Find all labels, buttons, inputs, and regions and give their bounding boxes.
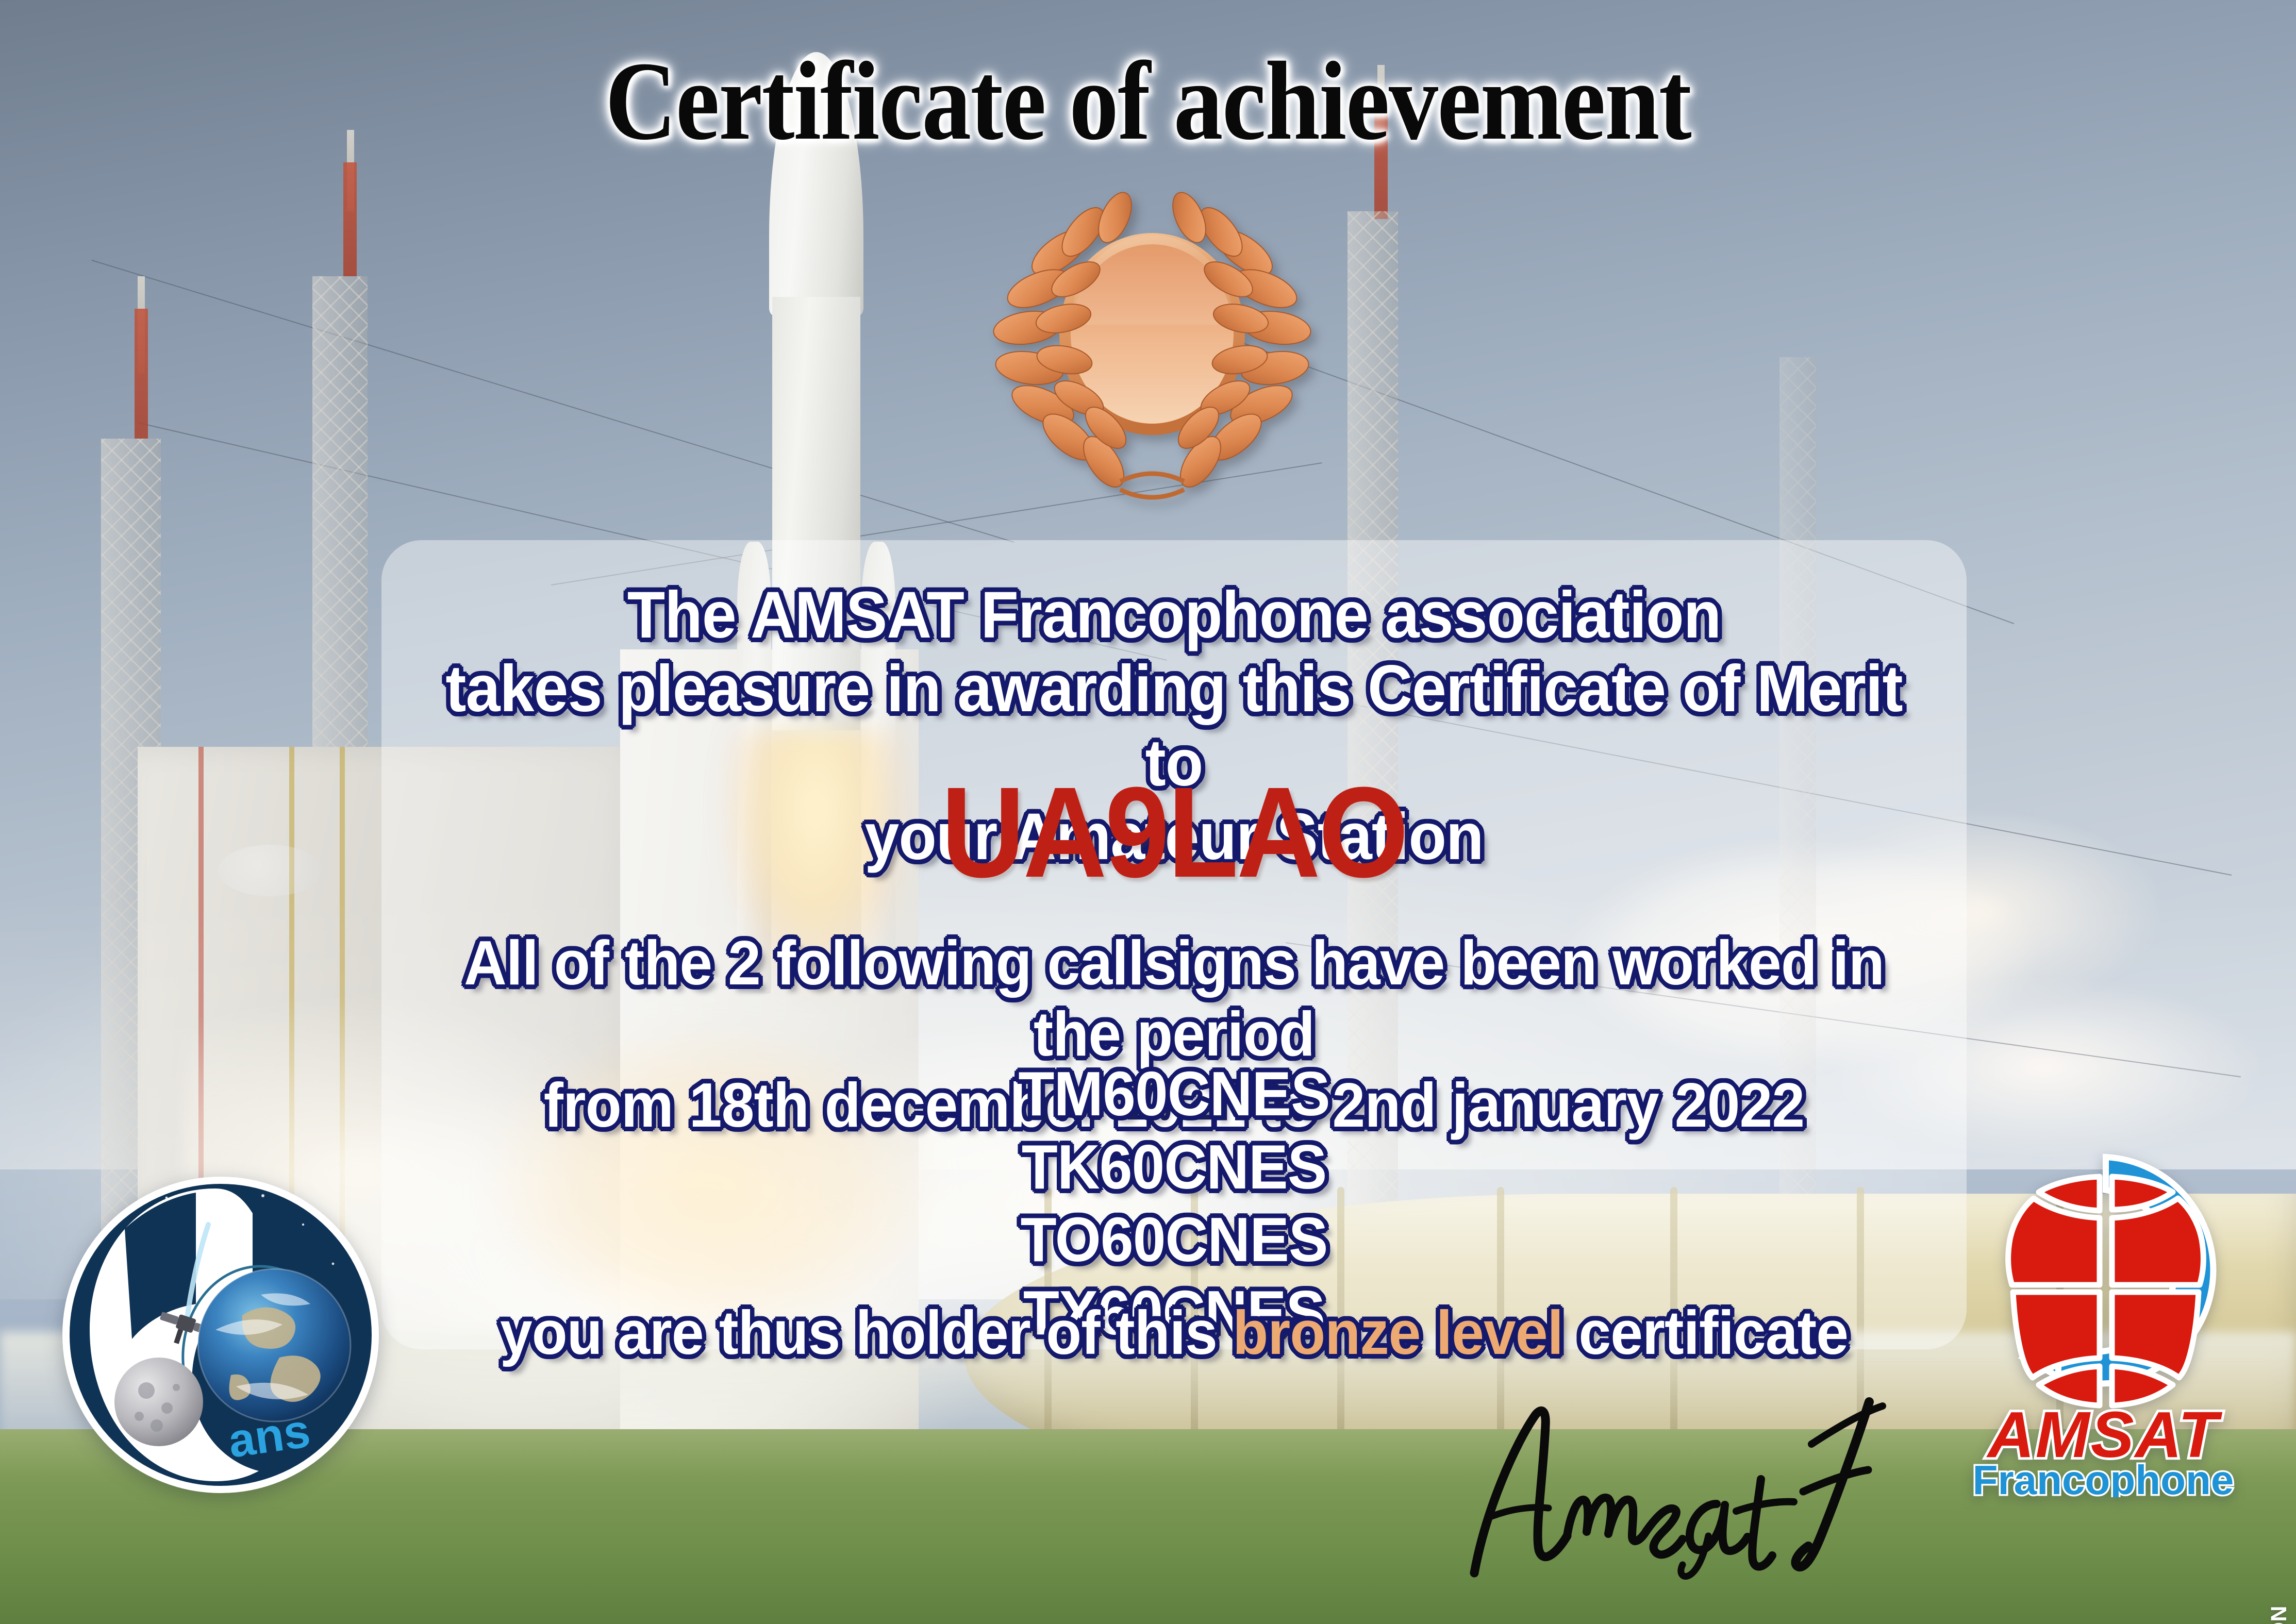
page-title: Certificate of achievement bbox=[138, 45, 2158, 158]
photo-credit-right: ©2021 ESA-CNES-ARIANESPACE / Optique Vid… bbox=[2267, 1605, 2292, 1624]
logo60-ans-label: ans bbox=[225, 1404, 313, 1468]
amsat-francophone-logo-icon: AMSAT Francophone bbox=[1936, 1136, 2271, 1497]
worked-callsign-item: TM60CNES bbox=[429, 1058, 1919, 1131]
signature-icon bbox=[1438, 1381, 1902, 1587]
closing-prefix: you are thus holder of this bbox=[500, 1298, 1233, 1367]
cnes-60-ans-logo-icon: ans bbox=[61, 1175, 380, 1495]
closing-text: you are thus holder of this bronze level… bbox=[429, 1299, 1919, 1367]
worked-callsign-item: TO60CNES bbox=[429, 1203, 1919, 1277]
award-level-badge: bronze level bbox=[1233, 1298, 1563, 1367]
recipient-callsign: UA9LAO bbox=[461, 768, 1888, 897]
worked-callsign-item: TK60CNES bbox=[429, 1131, 1919, 1204]
certificate-canvas: Certificate of achievement bbox=[0, 0, 2296, 1624]
intro-line-1: The AMSAT Francophone association bbox=[429, 578, 1919, 652]
period-line-1: All of the 2 following callsigns have be… bbox=[429, 928, 1919, 1070]
closing-suffix: certificate bbox=[1563, 1298, 1848, 1367]
bronze-laurel-wreath-medal-icon bbox=[982, 170, 1322, 505]
amsat-subtitle: Francophone bbox=[1973, 1457, 2234, 1497]
